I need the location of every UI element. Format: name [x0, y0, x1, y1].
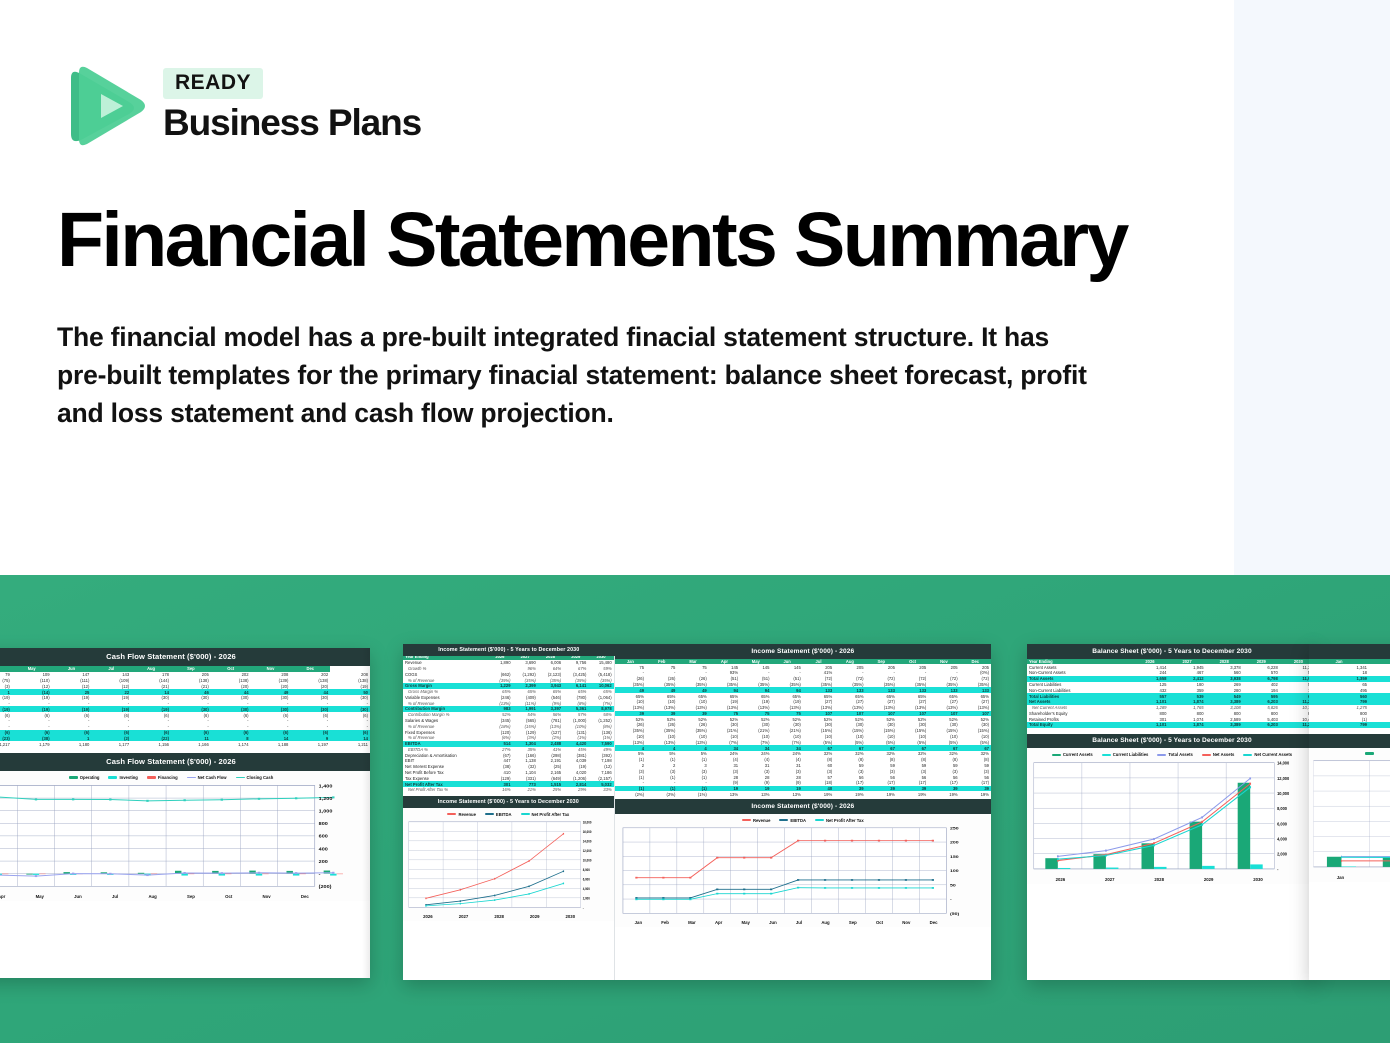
x-tick-label: 2028 — [494, 914, 504, 919]
x-tick-label: May — [742, 920, 750, 925]
x-tick-label: 2030 — [566, 914, 576, 919]
cash-flow-screenshot-card[interactable]: Cash Flow Statement ($'000) - 2026 AprMa… — [0, 648, 370, 978]
page-title: Financial Statements Summary — [57, 196, 1177, 284]
y-tick-label: 600 — [319, 834, 328, 840]
table-cell: 19% — [960, 791, 991, 797]
legend-label: Revenue — [753, 818, 770, 823]
x-tick-label: Jan — [1337, 875, 1344, 880]
table-cell: 1,177 — [91, 741, 131, 747]
legend-label: EBITDA — [790, 818, 806, 823]
legend-label: Closing Cash — [247, 775, 274, 780]
x-tick-label: Dec — [930, 920, 938, 925]
table-cell: 1,188 — [251, 741, 291, 747]
y-tick-label: 4,000 — [1277, 836, 1287, 842]
balance-sheet-monthly-screenshot-card[interactable]: JanFeb1,3411,32318361,3591,3596572495489… — [1309, 644, 1390, 980]
legend-item: Revenue — [447, 812, 475, 817]
x-tick-label: Mar — [688, 920, 696, 925]
legend-label: Net Cash Flow — [198, 775, 227, 780]
bar — [1106, 868, 1119, 869]
legend-item: Financing — [147, 775, 178, 780]
income-2026-plot: 25020015010050-(50) — [618, 824, 988, 919]
y-tick-label: 2,000 — [583, 896, 590, 901]
table-row: Salaries & Wages(345)(565)(781)(1,000)(1… — [403, 718, 614, 724]
income-5yr-sheet-title: Income Statement ($'000) - 5 Years to De… — [403, 644, 615, 656]
x-tick-label: Jul — [796, 920, 802, 925]
x-tick-label: 2026 — [423, 914, 433, 919]
legend-item: Investing — [108, 775, 137, 780]
y-tick-label: 2,000 — [1277, 852, 1287, 858]
table-cell: (2%) — [646, 791, 677, 797]
row-label: Total Equity — [1027, 722, 1131, 728]
x-tick-label: 2028 — [1154, 877, 1164, 882]
y-tick-label: 18,000 — [583, 820, 592, 825]
table-cell: 1,156 — [131, 741, 171, 747]
table-row: Net Profit After Tax %16%21%25%29%33% — [403, 787, 614, 793]
card-edge-shadow — [362, 648, 370, 978]
table-row: Fixed Expenses(120)(129)(127)(131)(136) — [403, 729, 614, 735]
table-row: Total Equity1,1011,8743,3896,20311,235 — [1027, 722, 1317, 728]
legend-label: Financing — [158, 775, 178, 780]
legend-label: Total Assets — [1168, 752, 1192, 757]
x-tick-label: Oct — [876, 920, 883, 925]
table-row: Gross Margin %65%65%65%65%65% — [403, 689, 614, 695]
legend-item: Net Assets — [1202, 752, 1235, 757]
balance-monthly-table: JanFeb1,3411,32318361,3591,3596572495489… — [1309, 659, 1390, 728]
balance-monthly-title — [1309, 644, 1390, 659]
balance-monthly-plot — [1312, 756, 1390, 874]
table-row: Depreciation & Amortisation(67)(166)(298… — [403, 752, 614, 758]
legend-item: Current Assets — [1052, 752, 1093, 757]
table-cell: 1,101 — [1131, 722, 1168, 728]
table-cell: 33% — [588, 787, 613, 793]
right-tint-panel — [1234, 0, 1390, 575]
legend-item: Net Profit After Tax — [815, 818, 864, 823]
y-tick-label: 10,000 — [1277, 791, 1290, 797]
y-tick-label: - — [583, 905, 585, 910]
cash-flow-sheet-title: Cash Flow Statement ($'000) - 2026 — [0, 648, 370, 666]
y-tick-label: 6,000 — [583, 877, 590, 882]
table-cell: 25% — [538, 787, 563, 793]
income-2026-x-axis: JanFebMarAprMayJunJulAugSepOctNovDec — [618, 919, 988, 927]
play-triangle-logo-icon — [57, 60, 145, 152]
x-tick-label: Nov — [263, 894, 271, 899]
x-tick-label: 2029 — [530, 914, 540, 919]
x-tick-label: Jul — [112, 894, 118, 899]
y-tick-label: 12,000 — [1277, 776, 1290, 782]
table-cell: 6,203 — [1243, 722, 1280, 728]
bar — [138, 873, 144, 874]
table-cell: 21% — [513, 787, 538, 793]
y-tick-label: 100 — [950, 868, 959, 872]
income-5yr-table: Year Ending20262027202820292030Revenue1,… — [403, 654, 614, 793]
bar — [1383, 857, 1390, 867]
bar — [1045, 859, 1058, 870]
x-tick-label: Oct — [225, 894, 232, 899]
cash-flow-legend: OperatingInvestingFinancingNet Cash Flow… — [0, 773, 367, 781]
bar — [1202, 866, 1215, 869]
y-tick-label: 8,000 — [1277, 806, 1287, 812]
income-2026-table: JanFebMarAprMayJunJulAugSepOctNovDec7575… — [615, 659, 991, 798]
table-cell: 13% — [740, 791, 771, 797]
legend-item: Total Assets — [1157, 752, 1192, 757]
y-tick-label: 200 — [319, 859, 328, 865]
table-cell: 1,166 — [171, 741, 211, 747]
table-cell: 798 — [1369, 722, 1390, 728]
legend-item: Net Current Assets — [1243, 752, 1292, 757]
y-tick-label: 800 — [319, 821, 328, 827]
x-tick-label: 2027 — [1105, 877, 1115, 882]
brand-name: Business Plans — [163, 102, 421, 144]
table-cell: 3,389 — [1206, 722, 1243, 728]
balance-sheet-legend: Current AssetsCurrent LiabilitiesTotal A… — [1030, 750, 1314, 758]
cash-flow-table: AprMayJunJulAugSepOctNovDec7910914714317… — [0, 666, 370, 747]
legend-item — [1365, 752, 1374, 754]
legend-item: EBITDA — [485, 812, 512, 817]
bar — [1327, 857, 1342, 867]
table-cell: 799 — [1309, 722, 1369, 728]
x-tick-label: Sep — [187, 894, 195, 899]
table-row: Net Interest Expense(38)(32)(25)(19)(12) — [403, 764, 614, 770]
table-cell: (1%) — [677, 791, 708, 797]
y-tick-label: 250 — [950, 826, 959, 830]
y-tick-label: - — [319, 872, 321, 878]
balance-sheet-plot: 14,00012,00010,0008,0006,0004,0002,000- — [1030, 758, 1314, 876]
balance-sheet-table: Year Ending20262027202820292030Current A… — [1027, 659, 1317, 728]
x-tick-label: Apr — [715, 920, 722, 925]
table-cell: 19% — [928, 791, 959, 797]
hero-section: READY Business Plans Financial Statement… — [0, 0, 1390, 575]
y-tick-label: 8,000 — [583, 867, 590, 872]
brand-logo: READY Business Plans — [57, 60, 421, 152]
y-tick-label: 1,200 — [319, 796, 333, 802]
y-tick-label: - — [1277, 867, 1279, 873]
table-cell: 13% — [771, 791, 802, 797]
bar — [1058, 868, 1071, 869]
x-tick-label: 2027 — [459, 914, 469, 919]
legend-label: Investing — [119, 775, 137, 780]
table-cell: 19% — [897, 791, 928, 797]
balance-sheet-x-axis: 20262027202820292030 — [1030, 876, 1314, 884]
income-5yr-plot: 18,00016,00014,00012,00010,0008,0006,000… — [406, 818, 611, 913]
y-tick-label: 10,000 — [583, 858, 592, 863]
y-tick-label: 50 — [950, 883, 956, 887]
bar — [1154, 867, 1167, 869]
table-cell: 1,179 — [12, 741, 52, 747]
legend-label: Net Assets — [1213, 752, 1235, 757]
legend-label: Revenue — [458, 812, 475, 817]
balance-sheet-title: Balance Sheet ($'000) - 5 Years to Decem… — [1027, 644, 1317, 659]
x-tick-label: Aug — [148, 894, 156, 899]
x-tick-label: 2026 — [1056, 877, 1066, 882]
legend-item: Revenue — [742, 818, 770, 823]
legend-label: Net Current Assets — [1254, 752, 1292, 757]
table-cell: 29% — [563, 787, 588, 793]
x-tick-label: Jun — [74, 894, 82, 899]
y-tick-label: (50) — [950, 911, 960, 915]
table-cell: 19% — [866, 791, 897, 797]
table-cell: 13% — [709, 791, 740, 797]
legend-item: Net Cash Flow — [187, 775, 227, 780]
x-tick-label: May — [36, 894, 44, 899]
x-tick-label: Nov — [902, 920, 910, 925]
legend-item: Net Profit After Tax — [521, 812, 570, 817]
table-cell: 19% — [803, 791, 834, 797]
table-row: Contribution Margin %52%54%56%57%58% — [403, 712, 614, 718]
row-label: Net Profit After Tax % — [403, 787, 487, 793]
y-tick-label: - — [950, 897, 952, 901]
y-tick-label: 200 — [950, 840, 959, 844]
bar — [330, 874, 336, 876]
table-row: Contribution Margin9831,9913,3975,3618,9… — [403, 706, 614, 712]
legend-label: EBITDA — [496, 812, 512, 817]
y-tick-label: 400 — [319, 847, 328, 853]
table-cell: 19% — [834, 791, 865, 797]
x-tick-label: Feb — [661, 920, 669, 925]
table-row: (2%)(2%)(1%)13%13%13%19%19%19%19%19%19% — [615, 791, 991, 797]
x-tick-label: 2029 — [1204, 877, 1214, 882]
cash-flow-x-axis: AprMayJunJulAugSepOctNovDec — [0, 893, 367, 901]
table-row: Net Profit After Tax3017731,5152,8145,03… — [403, 781, 614, 787]
bar — [1250, 865, 1263, 870]
balance-chart-title: Balance Sheet ($'000) - 5 Years to Decem… — [1027, 734, 1317, 749]
table-cell: 1,197 — [290, 741, 330, 747]
balance-monthly-x-axis: JanFeb — [1312, 874, 1390, 882]
table-row: 1,2171,1791,1801,1771,1561,1661,1741,188… — [0, 741, 370, 747]
legend-item: Closing Cash — [236, 775, 274, 780]
x-tick-label: Jan — [635, 920, 642, 925]
legend-label: Net Profit After Tax — [532, 812, 570, 817]
y-tick-label: 4,000 — [583, 886, 590, 891]
y-tick-label: 12,000 — [583, 848, 592, 853]
legend-label: Operating — [80, 775, 100, 780]
y-tick-label: (200) — [319, 884, 332, 890]
x-tick-label: Aug — [821, 920, 829, 925]
y-tick-label: 1,400 — [319, 784, 333, 790]
table-cell: 1,874 — [1169, 722, 1206, 728]
y-tick-label: 14,000 — [1277, 761, 1290, 767]
income-2026-legend: RevenueEBITDANet Profit After Tax — [618, 816, 988, 824]
legend-item: EBITDA — [779, 818, 806, 823]
income-statement-screenshot-card[interactable]: Year Ending20262027202820292030Revenue1,… — [403, 644, 991, 980]
income-2026-sheet-title: Income Statement ($'000) - 2026 — [615, 644, 991, 659]
legend-item: Operating — [69, 775, 100, 780]
table-cell: 16% — [487, 787, 512, 793]
legend-label: Net Profit After Tax — [826, 818, 864, 823]
y-tick-label: 14,000 — [583, 839, 592, 844]
table-row: Variable Expenses(246)(409)(546)(780)(1,… — [403, 694, 614, 700]
legend-item: Current Liabilities — [1102, 752, 1149, 757]
income-5yr-x-axis: 20262027202820292030 — [406, 913, 611, 921]
bar — [256, 874, 262, 876]
cash-flow-chart-title: Cash Flow Statement ($'000) - 2026 — [0, 753, 370, 771]
table-row: Net Profit Before Tax4101,1042,1654,0207… — [403, 770, 614, 776]
table-cell: 1,174 — [211, 741, 251, 747]
legend-label: Current Assets — [1063, 752, 1093, 757]
bar — [26, 874, 32, 875]
balance-sheet-screenshot-card[interactable]: Balance Sheet ($'000) - 5 Years to Decem… — [1027, 644, 1317, 980]
y-tick-label: 1,000 — [319, 809, 333, 815]
income-5yr-chart-title: Income Statement ($'000) - 5 Years to De… — [403, 796, 614, 808]
table-row: 799798 — [1309, 722, 1390, 728]
page-description: The financial model has a pre-built inte… — [57, 318, 1092, 432]
ready-badge: READY — [163, 68, 263, 99]
income-5yr-legend: RevenueEBITDANet Profit After Tax — [406, 810, 611, 818]
x-tick-label: Jun — [769, 920, 777, 925]
cash-flow-plot: 1,4001,2001,000800600400200-(200) — [0, 781, 367, 893]
y-tick-label: 16,000 — [583, 829, 592, 834]
table-cell: 1,217 — [0, 741, 12, 747]
x-tick-label: Sep — [849, 920, 857, 925]
table-cell: (2%) — [615, 791, 646, 797]
x-tick-label: Dec — [301, 894, 309, 899]
income-2026-chart-title: Income Statement ($'000) - 2026 — [615, 799, 991, 814]
x-tick-label: 2030 — [1253, 877, 1263, 882]
y-tick-label: 6,000 — [1277, 821, 1287, 827]
bar — [33, 874, 39, 875]
legend-label: Current Liabilities — [1113, 752, 1149, 757]
table-cell: 1,180 — [52, 741, 92, 747]
x-tick-label: Apr — [0, 894, 5, 899]
y-tick-label: 150 — [950, 854, 959, 858]
